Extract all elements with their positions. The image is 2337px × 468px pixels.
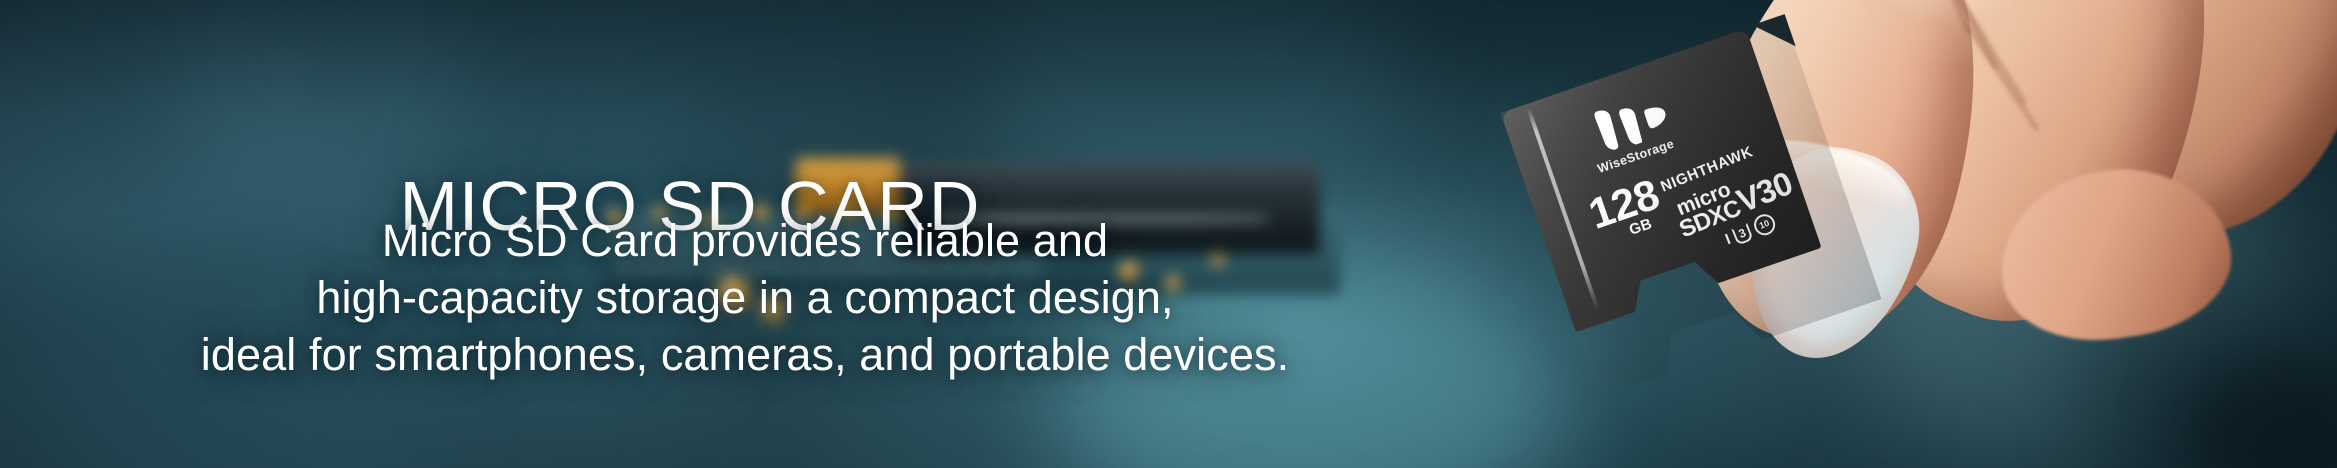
description-line-3: ideal for smartphones, cameras, and port… [0, 326, 1490, 383]
card-uhs-speed-class-badge: 3 [1731, 222, 1753, 245]
product-banner: WiseStorage 128 GB NIGHTHAWK micro SDXC … [0, 0, 2337, 468]
banner-copy: MICRO SD CARD Micro SD Card provides rel… [0, 0, 1460, 468]
banner-description: Micro SD Card provides reliable and high… [0, 212, 1490, 383]
description-line-1: Micro SD Card provides reliable and [0, 212, 1490, 269]
description-line-2: high-capacity storage in a compact desig… [0, 269, 1490, 326]
